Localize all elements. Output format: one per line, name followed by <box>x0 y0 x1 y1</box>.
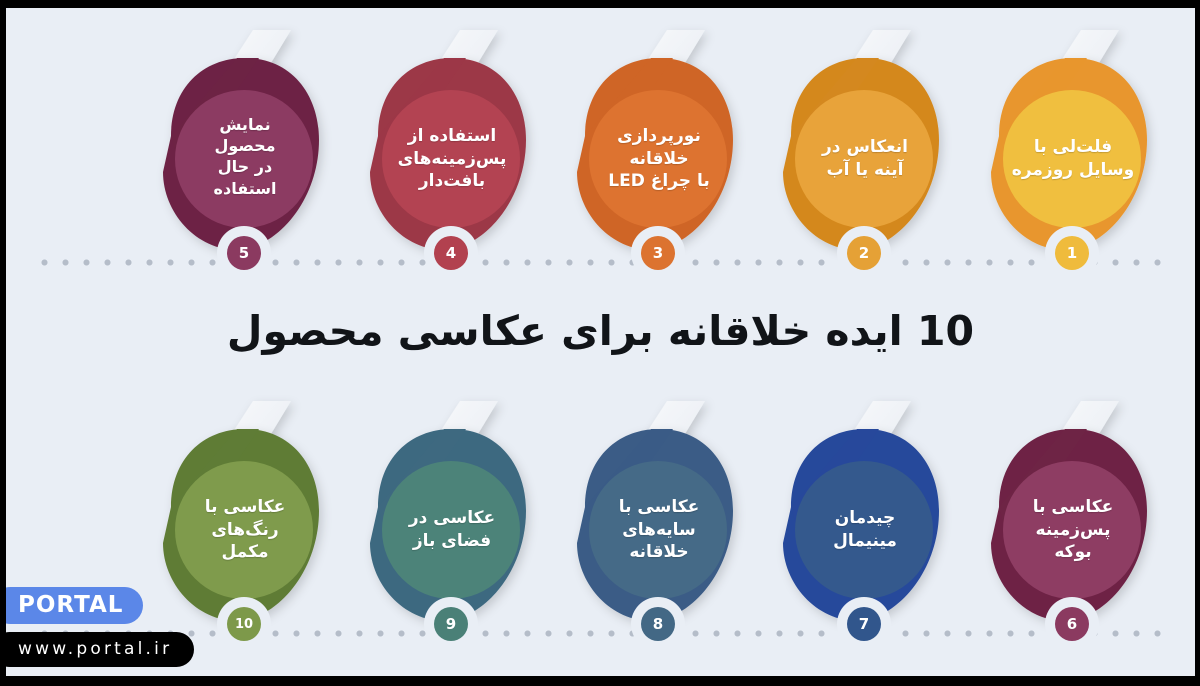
infographic-item-8[interactable]: عکاسی با سایه‌های خلاقانه8 <box>555 419 755 676</box>
item-circle-5 <box>175 90 313 228</box>
item-circle-1 <box>1003 90 1141 228</box>
infographic-item-1[interactable]: فلت‌لی با وسایل روزمره1 <box>969 48 1169 308</box>
item-circle-10 <box>175 461 313 599</box>
infographic-item-5[interactable]: نمایش محصول در حال استفاده5 <box>141 48 341 308</box>
item-number-badge-6[interactable]: 6 <box>1055 607 1089 641</box>
infographic-frame: فلت‌لی با وسایل روزمره1انعکاس در آینه یا… <box>6 8 1195 676</box>
item-number-badge-4[interactable]: 4 <box>434 236 468 270</box>
item-number-badge-7[interactable]: 7 <box>847 607 881 641</box>
watermark-brand: PORTAL <box>6 587 143 624</box>
item-circle-2 <box>795 90 933 228</box>
item-number-badge-8[interactable]: 8 <box>641 607 675 641</box>
item-circle-8 <box>589 461 727 599</box>
connector-rail-bottom <box>34 630 1169 637</box>
watermark-url: www.portal.ir <box>6 632 194 667</box>
item-number-badge-3[interactable]: 3 <box>641 236 675 270</box>
infographic-stage: فلت‌لی با وسایل روزمره1انعکاس در آینه یا… <box>6 8 1195 676</box>
infographic-item-3[interactable]: نورپردازی خلاقانه با چراغ LED3 <box>555 48 755 308</box>
item-number-badge-1[interactable]: 1 <box>1055 236 1089 270</box>
infographic-item-9[interactable]: عکاسی در فضای باز9 <box>348 419 548 676</box>
item-circle-6 <box>1003 461 1141 599</box>
item-number-badge-10[interactable]: 10 <box>227 607 261 641</box>
item-number-badge-9[interactable]: 9 <box>434 607 468 641</box>
infographic-item-7[interactable]: چیدمان مینیمال7 <box>761 419 961 676</box>
infographic-item-4[interactable]: استفاده از پس‌زمینه‌های بافت‌دار4 <box>348 48 548 308</box>
item-number-badge-5[interactable]: 5 <box>227 236 261 270</box>
page-title: 10 ایده خلاقانه برای عکاسی محصول <box>6 306 1195 357</box>
infographic-item-6[interactable]: عکاسی با پس‌زمینه بوکه6 <box>969 419 1169 676</box>
item-circle-7 <box>795 461 933 599</box>
connector-rail-top <box>34 259 1169 266</box>
item-number-badge-2[interactable]: 2 <box>847 236 881 270</box>
infographic-item-2[interactable]: انعکاس در آینه یا آب2 <box>761 48 961 308</box>
item-circle-9 <box>382 461 520 599</box>
item-circle-4 <box>382 90 520 228</box>
item-circle-3 <box>589 90 727 228</box>
